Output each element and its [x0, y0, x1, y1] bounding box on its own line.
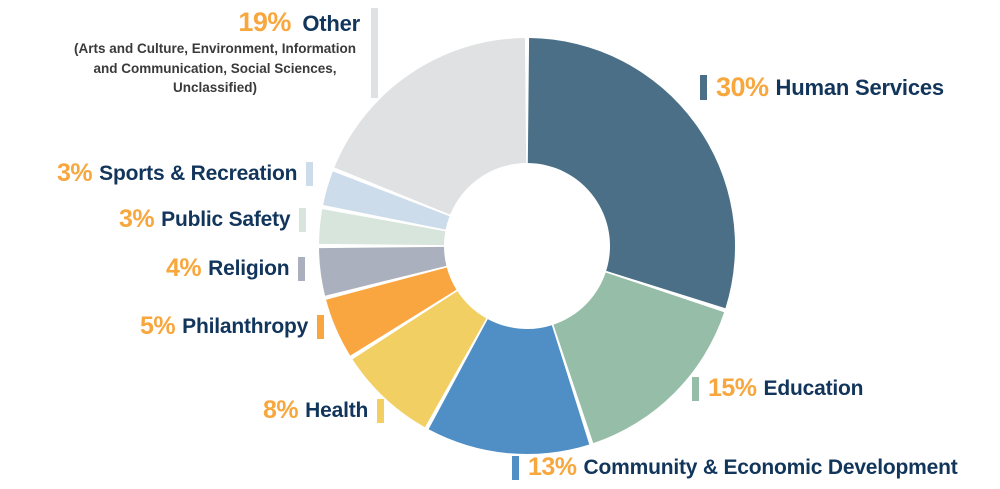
legend-percent-public-safety: 3%	[119, 207, 154, 232]
legend-label-education: Education	[764, 378, 864, 399]
legend-item-human-services[interactable]: 30% Human Services	[700, 74, 944, 101]
legend-label-public-safety: Public Safety	[161, 209, 290, 230]
legend-percent-education: 15%	[708, 376, 757, 401]
legend-percent-other: 19%	[238, 7, 291, 37]
donut-slice-group	[319, 38, 735, 454]
legend-swatch-religion	[298, 257, 305, 281]
legend-swatch-philanthropy	[317, 315, 324, 339]
legend-item-religion[interactable]: 4% Religion	[166, 256, 305, 281]
legend-other-headline: 19% Other	[70, 8, 360, 36]
legend-item-sports-recreation[interactable]: 3% Sports & Recreation	[57, 161, 313, 186]
legend-label-community-economic-development: Community & Economic Development	[584, 457, 958, 478]
legend-item-health[interactable]: 8% Health	[263, 398, 384, 423]
legend-label-human-services: Human Services	[776, 77, 944, 99]
legend-label-philanthropy: Philanthropy	[182, 316, 308, 337]
legend-swatch-human-services	[700, 75, 707, 100]
legend-label-religion: Religion	[208, 258, 289, 279]
legend-swatch-sports-recreation	[306, 162, 313, 186]
legend-label-health: Health	[305, 400, 368, 421]
legend-percent-sports-recreation: 3%	[57, 161, 92, 186]
legend-item-education[interactable]: 15% Education	[692, 376, 863, 401]
legend-item-public-safety[interactable]: 3% Public Safety	[119, 207, 306, 232]
legend-swatch-health	[377, 399, 384, 423]
legend-other-detail: (Arts and Culture, Environment, Informat…	[70, 39, 360, 98]
legend-swatch-other	[371, 8, 378, 98]
legend-percent-health: 8%	[263, 398, 298, 423]
legend-label-other: Other	[302, 11, 360, 36]
legend-label-sports-recreation: Sports & Recreation	[99, 163, 297, 184]
legend-item-other[interactable]: 19% Other (Arts and Culture, Environment…	[70, 8, 378, 98]
legend-swatch-community-economic-development	[512, 456, 519, 480]
legend-item-community-economic-development[interactable]: 13% Community & Economic Development	[512, 455, 958, 480]
legend-other-text-block: 19% Other (Arts and Culture, Environment…	[70, 8, 360, 98]
donut-chart-page: 30% Human Services 15% Education 13% Com…	[0, 0, 1000, 489]
legend-percent-human-services: 30%	[716, 74, 769, 101]
legend-item-philanthropy[interactable]: 5% Philanthropy	[140, 314, 324, 339]
legend-percent-philanthropy: 5%	[140, 314, 175, 339]
legend-swatch-public-safety	[299, 208, 306, 232]
legend-percent-religion: 4%	[166, 256, 201, 281]
legend-swatch-education	[692, 377, 699, 401]
legend-percent-community-economic-development: 13%	[528, 455, 577, 480]
